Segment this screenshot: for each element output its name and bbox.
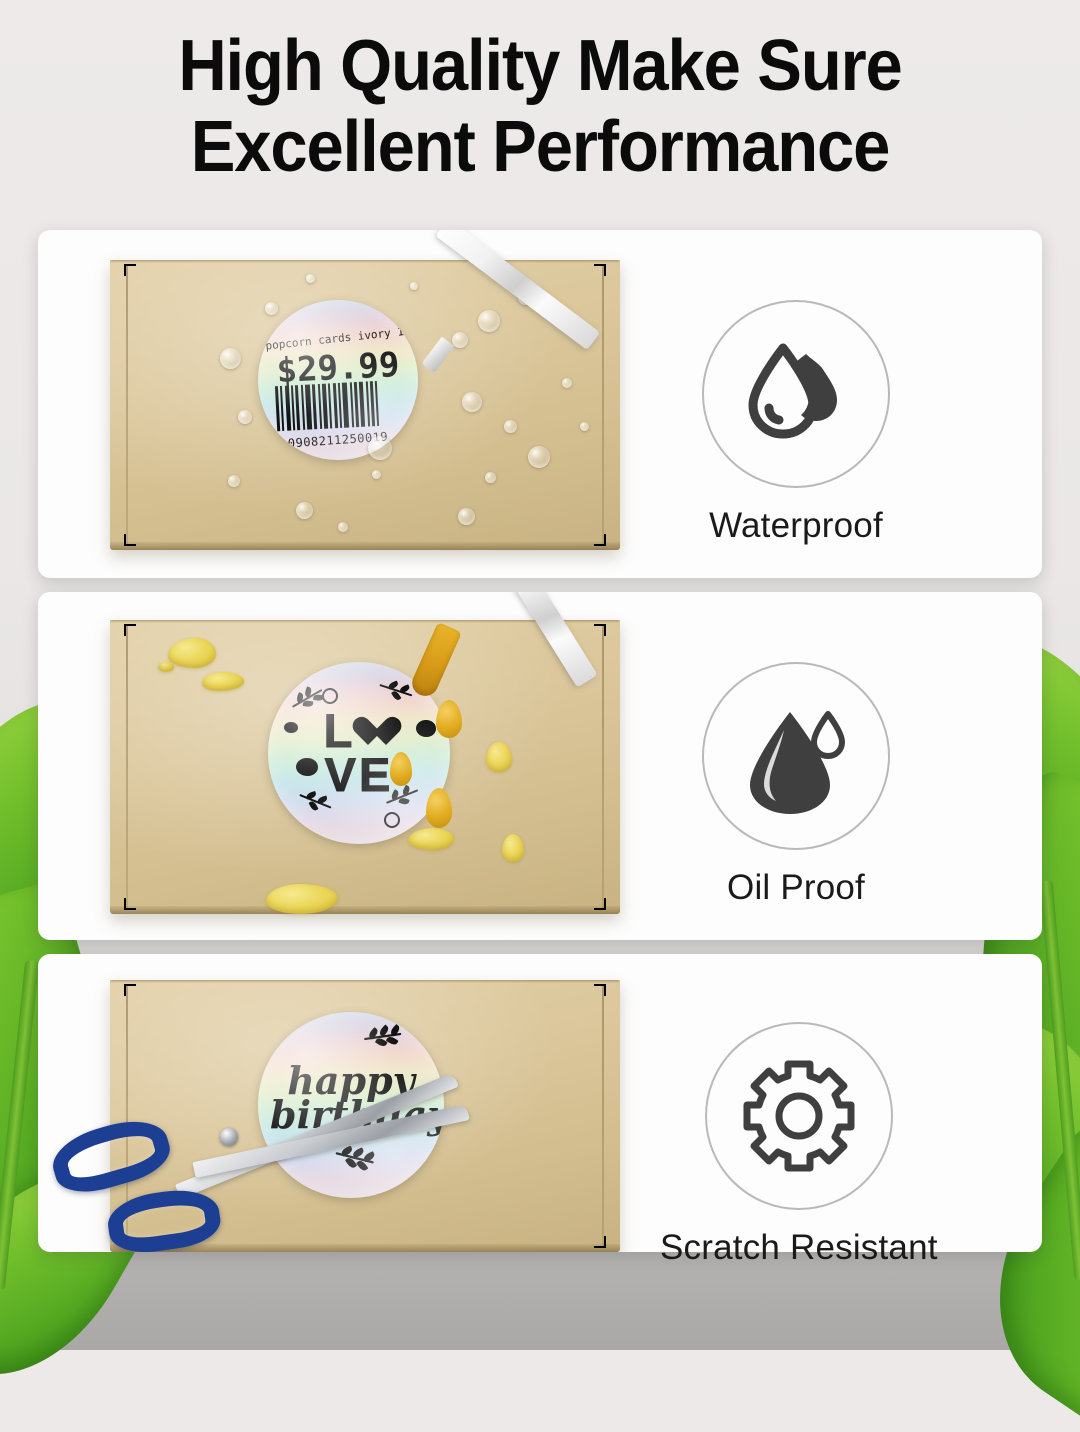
gear-icon: [739, 1056, 859, 1176]
feature-panel-waterproof: popcorn cards ivory 1X $29.99 0908211250…: [38, 230, 1042, 578]
oil-proof-label: Oil Proof: [727, 868, 865, 908]
panel-1-clip: popcorn cards ivory 1X $29.99 0908211250…: [38, 230, 1042, 578]
oil-blob: [486, 742, 512, 772]
feature-waterproof: Waterproof: [702, 300, 890, 546]
oil-proof-icon-circle: [702, 662, 890, 850]
oil-droplet-icon: [736, 696, 856, 816]
water-droplet: [228, 475, 240, 487]
panel-2-clip: L VE: [38, 592, 1042, 940]
water-droplet: [220, 348, 241, 369]
love-letters-ve: VE: [325, 753, 394, 796]
water-droplet-icon: [736, 334, 856, 454]
scratch-resistant-label: Scratch Resistant: [660, 1228, 938, 1268]
falling-oil-drop: [390, 752, 412, 786]
love-text: L VE: [268, 709, 450, 795]
flower-icon: [384, 812, 400, 828]
holographic-price-sticker: popcorn cards ivory 1X $29.99 0908211250…: [258, 300, 418, 460]
water-droplet: [265, 302, 278, 315]
water-droplet: [504, 420, 517, 433]
water-droplet: [372, 470, 381, 479]
oil-blob: [202, 672, 244, 691]
barcode-number-text: 0908211250019: [258, 428, 418, 453]
oil-blob: [158, 662, 174, 672]
page-title: High Quality Make Sure Excellent Perform…: [38, 26, 1042, 187]
water-droplet: [452, 332, 468, 348]
water-droplet: [338, 522, 348, 532]
water-droplet: [562, 378, 572, 388]
scissors-pivot: [220, 1128, 238, 1146]
water-droplet: [528, 446, 550, 468]
barcode: [275, 380, 402, 431]
feature-panel-oil-proof: L VE: [38, 592, 1042, 940]
feature-scratch-resistant: Scratch Resistant: [660, 1022, 938, 1268]
flower-icon: [322, 688, 338, 704]
page-title-line-1: High Quality Make Sure: [38, 26, 1042, 107]
kraft-box-2: L VE: [110, 620, 620, 914]
oil-blob: [502, 834, 524, 862]
water-droplet: [580, 422, 589, 431]
love-line-1: L: [268, 709, 450, 752]
love-letter-l: L: [324, 709, 356, 752]
love-line-2: VE: [268, 753, 450, 796]
oil-blob: [168, 638, 216, 668]
water-droplet: [238, 410, 252, 424]
water-droplet: [485, 472, 496, 483]
water-droplet: [368, 436, 392, 460]
holographic-birthday-sticker: happy birthday: [258, 1012, 444, 1198]
water-droplet: [296, 502, 313, 519]
waterproof-icon-circle: [702, 300, 890, 488]
feature-oil-proof: Oil Proof: [702, 662, 890, 908]
water-droplet: [458, 508, 475, 525]
scratch-resistant-icon-circle: [705, 1022, 893, 1210]
water-droplet: [478, 310, 500, 332]
waterproof-label: Waterproof: [709, 506, 883, 546]
water-droplet: [462, 392, 482, 412]
heart-icon: [360, 718, 394, 749]
water-droplet: [306, 274, 315, 283]
page-title-line-2: Excellent Performance: [38, 107, 1042, 188]
water-droplet: [410, 282, 418, 290]
